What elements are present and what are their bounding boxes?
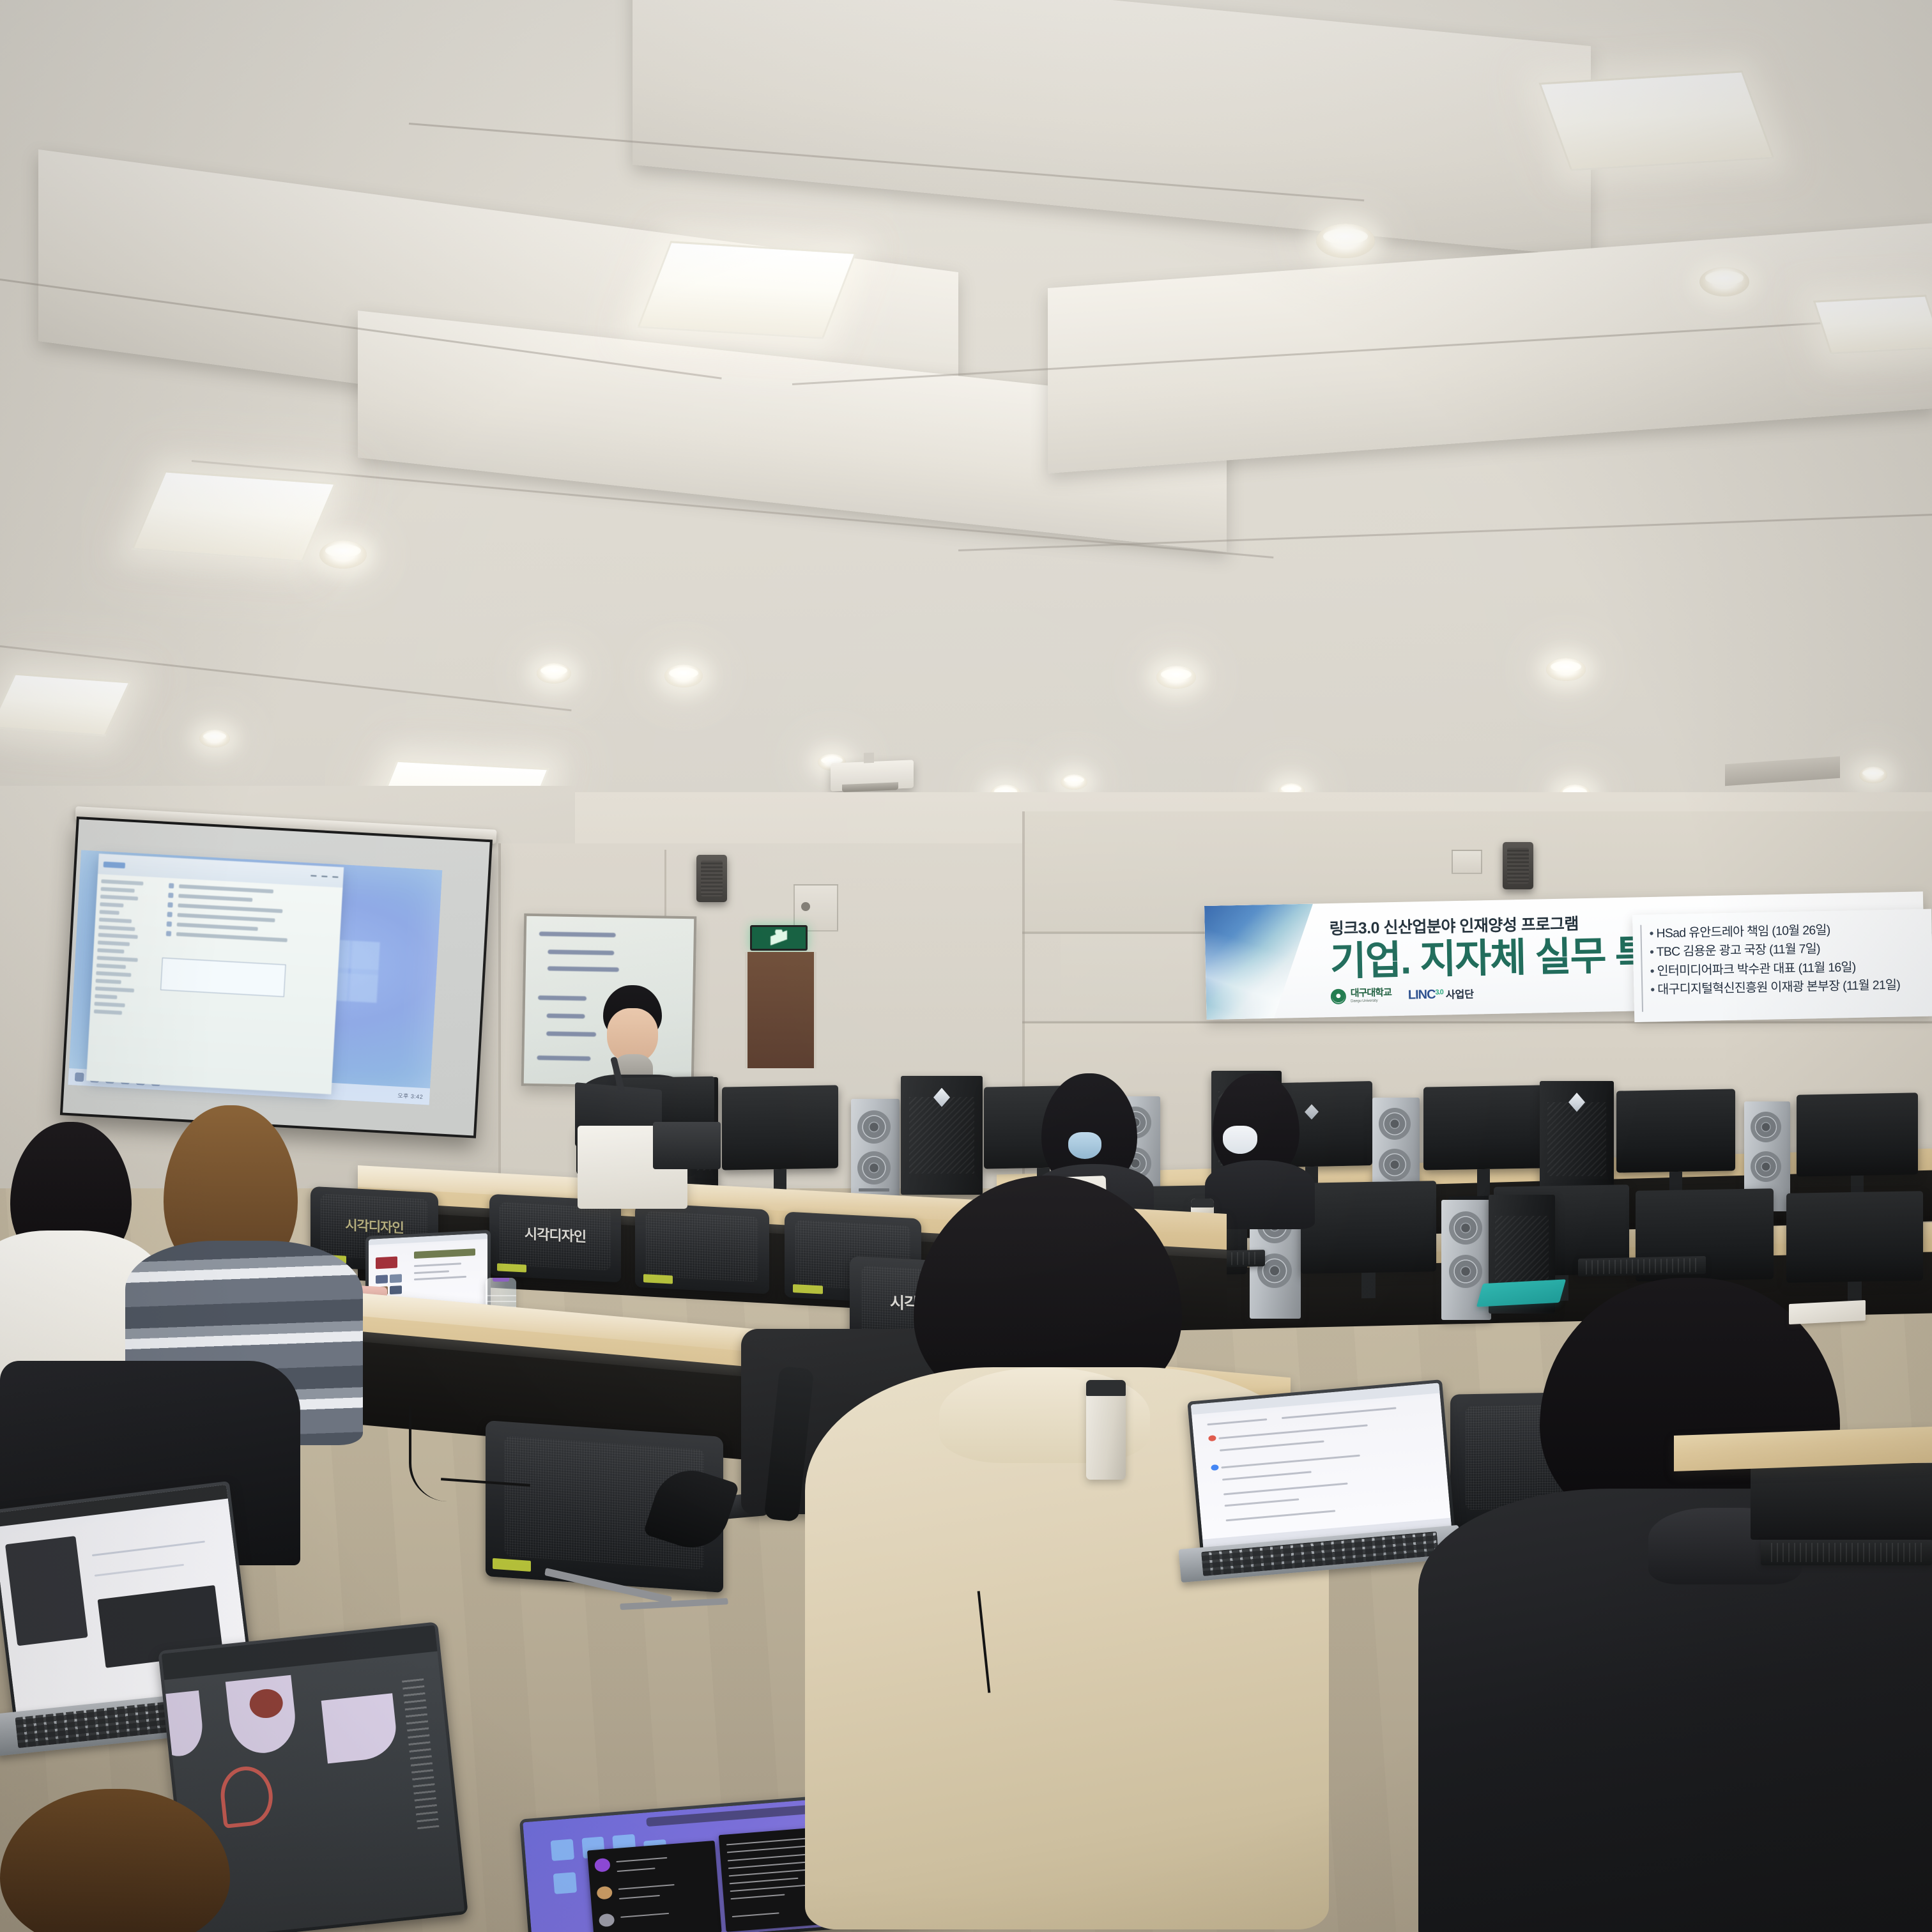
taskbar-clock: 오후 3:42	[397, 1091, 424, 1100]
daegu-university-emblem-icon	[1331, 988, 1346, 1004]
face-mask	[1223, 1126, 1257, 1154]
wall-access-panel	[793, 884, 838, 931]
ceiling-downlight	[1699, 267, 1749, 296]
linc-wordmark: LINC	[1408, 988, 1436, 1002]
linc-logo: LINC3.0사업단	[1408, 986, 1475, 1003]
monitor	[1751, 1463, 1932, 1540]
ceiling-soffit-right	[1048, 223, 1932, 473]
monitor	[1423, 1085, 1544, 1170]
face-mask	[1068, 1132, 1101, 1159]
ceiling-downlight	[1061, 774, 1087, 790]
monitor	[1786, 1191, 1923, 1283]
explorer-file-list	[152, 878, 342, 1094]
tumbler[interactable]	[1086, 1380, 1126, 1480]
projection-screen-frame: 오후 3:42	[60, 816, 493, 1138]
monitor	[722, 1085, 838, 1170]
wall-speaker	[696, 855, 727, 902]
ceiling-downlight	[664, 664, 703, 687]
ceiling-projector	[831, 760, 914, 791]
whiteboard-note	[537, 1055, 590, 1061]
explorer-tooltip	[160, 957, 286, 997]
ceiling-downlight	[1546, 658, 1586, 681]
ceiling-downlight	[1316, 224, 1375, 258]
ceiling-panel-light	[637, 241, 856, 339]
whiteboard-note	[538, 995, 586, 1000]
ceiling-downlight	[1156, 666, 1196, 689]
chair-label: 시각디자인	[525, 1222, 586, 1246]
whiteboard-note	[547, 1013, 585, 1018]
running-person-icon	[770, 930, 786, 946]
laptop[interactable]	[1179, 1390, 1460, 1575]
ceiling-downlight	[1859, 767, 1887, 783]
lecture-hall-photo: 오후 3:42	[0, 0, 1932, 1932]
ceiling-downlight	[537, 663, 571, 684]
university-name-kr: 대구대학교	[1351, 988, 1391, 998]
exit-sign	[750, 925, 808, 951]
paper	[1789, 1300, 1866, 1324]
speaker-schedule-panel: HSad 유안드레아 책임 (10월 26일) TBC 김용운 광고 국장 (1…	[1632, 909, 1932, 1022]
ceiling-vent	[1725, 756, 1840, 786]
monitor	[1616, 1089, 1735, 1172]
projected-file-explorer	[86, 854, 344, 1094]
ceiling-downlight	[199, 730, 230, 747]
monitor	[1301, 1181, 1436, 1274]
whiteboard-note	[539, 931, 616, 937]
keyboard	[1761, 1540, 1932, 1565]
chair[interactable]	[635, 1202, 769, 1294]
podium-equipment	[653, 1122, 721, 1169]
explorer-nav-pane	[86, 874, 164, 1084]
ceiling-soffit-top	[632, 0, 1591, 257]
ceiling-panel-light	[1813, 295, 1932, 354]
audience-member	[0, 1789, 268, 1932]
start-icon	[75, 1073, 84, 1082]
whiteboard-note	[548, 949, 614, 955]
laptop-screen	[1191, 1383, 1452, 1551]
ceiling	[0, 0, 1932, 850]
audience-member-right	[1457, 1278, 1932, 1932]
university-name-en: Daegu University	[1351, 999, 1391, 1003]
projection-screen: 오후 3:42	[63, 819, 490, 1135]
chat-window	[587, 1841, 722, 1932]
ceiling-panel-light	[0, 673, 131, 736]
pc-tower	[1540, 1081, 1614, 1197]
banner-ribbon-graphic	[1204, 904, 1315, 1020]
linc-suffix: 사업단	[1446, 990, 1475, 1001]
ceiling-panel-light	[132, 470, 336, 562]
wall-seam	[1022, 1021, 1932, 1023]
whiteboard-note	[548, 966, 619, 972]
wall-access-panel	[1452, 850, 1482, 874]
linc-version: 3.0	[1435, 988, 1443, 996]
wall-seam	[498, 843, 501, 1176]
university-logo: 대구대학교 Daegu University	[1331, 988, 1391, 1004]
explorer-tab	[103, 861, 125, 868]
hair	[0, 1789, 230, 1932]
keyboard	[1578, 1256, 1706, 1276]
ceiling-downlight	[319, 540, 367, 569]
exit-door	[745, 952, 816, 1068]
wall-speaker	[1503, 842, 1533, 889]
bottle-cap	[493, 1278, 510, 1282]
monitor	[1797, 1092, 1918, 1176]
ceiling-panel-light	[1538, 70, 1774, 171]
